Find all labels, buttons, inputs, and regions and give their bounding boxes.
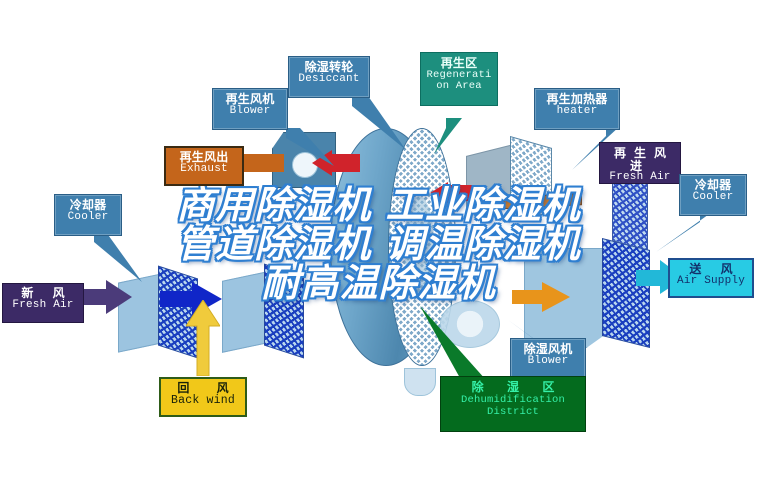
label-dehumidification-blower-en: Blower: [511, 356, 585, 368]
leader-cooler-left: [94, 232, 142, 282]
leader-cooler-right: [656, 212, 712, 252]
label-fresh-air-in-en: Fresh Air: [3, 300, 83, 312]
leader-regen-blower: [286, 128, 334, 166]
label-back-wind: 回 风 Back wind: [159, 377, 247, 417]
label-fresh-air-in-cn: 新 风: [3, 287, 83, 300]
label-regeneration-air-in-en: Fresh Air: [600, 172, 680, 184]
label-dehumidification-district-en2: District: [441, 406, 585, 418]
label-exhaust-cn: 再生风出: [166, 151, 242, 164]
label-regeneration-heater: 再生加热器 heater: [534, 88, 620, 130]
label-back-wind-en: Back wind: [161, 395, 245, 407]
label-cooler-left: 冷却器 Cooler: [54, 194, 122, 236]
label-back-wind-cn: 回 风: [161, 382, 245, 395]
label-desiccant-rotor: 除湿转轮 Desiccant: [288, 56, 370, 98]
label-regeneration-blower: 再生风机 Blower: [212, 88, 288, 130]
label-regeneration-air-in: 再生风进 Fresh Air: [599, 142, 681, 184]
leader-dehum-district: [420, 306, 486, 380]
label-desiccant-rotor-en: Desiccant: [289, 74, 369, 86]
label-regeneration-blower-cn: 再生风机: [213, 93, 287, 106]
leader-regen-area: [434, 118, 462, 154]
label-dehumidification-district-cn: 除 湿 区: [441, 381, 585, 394]
label-cooler-left-cn: 冷却器: [55, 199, 121, 212]
label-exhaust-en: Exhaust: [166, 164, 242, 176]
callout-leader-lines: [0, 0, 757, 488]
label-regeneration-area-en2: on Area: [421, 81, 497, 93]
label-regeneration-air-in-cn: 再生风进: [600, 147, 680, 172]
label-fresh-air-in: 新 风 Fresh Air: [2, 283, 84, 323]
label-exhaust: 再生风出 Exhaust: [164, 146, 244, 186]
label-dehumidification-blower-cn: 除湿风机: [511, 343, 585, 356]
label-air-supply: 送 风 Air Supply: [668, 258, 754, 298]
leader-desiccant: [352, 96, 406, 150]
label-cooler-right-cn: 冷却器: [680, 179, 746, 192]
label-desiccant-rotor-cn: 除湿转轮: [289, 61, 369, 74]
label-regeneration-blower-en: Blower: [213, 106, 287, 118]
label-cooler-right: 冷却器 Cooler: [679, 174, 747, 216]
dehumidifier-schematic-diagram: 商用除湿机 工业除湿机 管道除湿机 调温除湿机 耐高温除湿机 除湿转轮 Desi…: [0, 0, 757, 488]
label-air-supply-en: Air Supply: [670, 276, 752, 288]
label-cooler-left-en: Cooler: [55, 212, 121, 224]
label-regeneration-heater-en: heater: [535, 106, 619, 118]
label-dehumidification-blower: 除湿风机 Blower: [510, 338, 586, 380]
label-air-supply-cn: 送 风: [670, 263, 752, 276]
label-cooler-right-en: Cooler: [680, 192, 746, 204]
label-dehumidification-district: 除 湿 区 Dehumidification District: [440, 376, 586, 432]
label-regeneration-heater-cn: 再生加热器: [535, 93, 619, 106]
label-regeneration-area: 再生区 Regenerati on Area: [420, 52, 498, 106]
label-dehumidification-district-en1: Dehumidification: [441, 394, 585, 406]
label-regeneration-area-cn: 再生区: [421, 57, 497, 70]
